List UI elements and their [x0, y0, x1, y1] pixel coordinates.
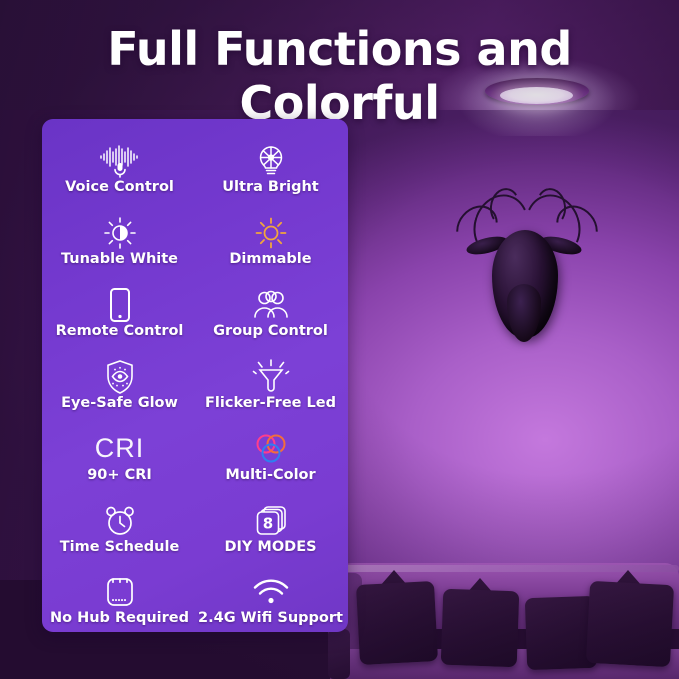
feature-wifi-support[interactable]: 2.4G Wifi Support: [195, 556, 346, 628]
product-feature-banner: Full Functions and Colorful Voice Contro…: [0, 0, 679, 679]
feature-label: Flicker-Free Led: [205, 396, 336, 411]
group-people-icon: [251, 287, 291, 323]
sun-dimmer-icon: [254, 215, 288, 251]
half-filled-sun-icon: [103, 215, 137, 251]
feature-diy-modes[interactable]: 8 DIY MODES: [195, 484, 346, 556]
feature-dimmable[interactable]: Dimmable: [195, 197, 346, 269]
feature-label: Group Control: [213, 324, 328, 339]
feature-remote-control[interactable]: Remote Control: [44, 269, 195, 341]
feature-label: Dimmable: [229, 252, 311, 267]
feature-panel: Voice Control Ultra Bright: [42, 119, 348, 632]
feature-label: Remote Control: [56, 324, 184, 339]
spotlight-rays-icon: [253, 359, 289, 395]
wifi-signal-icon: [252, 574, 290, 610]
three-overlapping-circles-icon: [253, 431, 289, 467]
feature-label: 90+ CRI: [87, 468, 152, 483]
feature-multi-color[interactable]: Multi-Color: [195, 412, 346, 484]
bright-bulb-rays-icon: [254, 143, 288, 179]
feature-no-hub-required[interactable]: No Hub Required: [44, 556, 195, 628]
feature-voice-control[interactable]: Voice Control: [44, 125, 195, 197]
feature-time-schedule[interactable]: Time Schedule: [44, 484, 195, 556]
feature-group-control[interactable]: Group Control: [195, 269, 346, 341]
feature-eye-safe-glow[interactable]: Eye-Safe Glow: [44, 341, 195, 413]
feature-label: Voice Control: [65, 180, 174, 195]
voice-waveform-microphone-icon: [98, 143, 142, 179]
feature-flicker-free-led[interactable]: Flicker-Free Led: [195, 341, 346, 413]
feature-label: No Hub Required: [50, 611, 189, 626]
diy-modes-count: 8: [262, 514, 272, 532]
feature-tunable-white[interactable]: Tunable White: [44, 197, 195, 269]
smartphone-icon: [107, 287, 133, 323]
feature-label: Ultra Bright: [222, 180, 318, 195]
feature-cri[interactable]: CRI 90+ CRI: [44, 412, 195, 484]
feature-label: 2.4G Wifi Support: [198, 611, 343, 626]
feature-ultra-bright[interactable]: Ultra Bright: [195, 125, 346, 197]
cri-text-icon: CRI: [95, 431, 145, 467]
stacked-cards-icon: 8: [253, 503, 289, 539]
cri-icon-text: CRI: [95, 435, 145, 462]
hub-router-icon: [103, 574, 137, 610]
feature-label: Time Schedule: [60, 540, 180, 555]
feature-label: DIY MODES: [224, 540, 316, 555]
page-title: Full Functions and Colorful: [0, 22, 679, 130]
alarm-clock-icon: [103, 503, 137, 539]
feature-grid: Voice Control Ultra Bright: [42, 119, 348, 632]
feature-label: Eye-Safe Glow: [61, 396, 178, 411]
feature-label: Tunable White: [61, 252, 178, 267]
feature-label: Multi-Color: [225, 468, 315, 483]
shield-eye-icon: [104, 359, 136, 395]
